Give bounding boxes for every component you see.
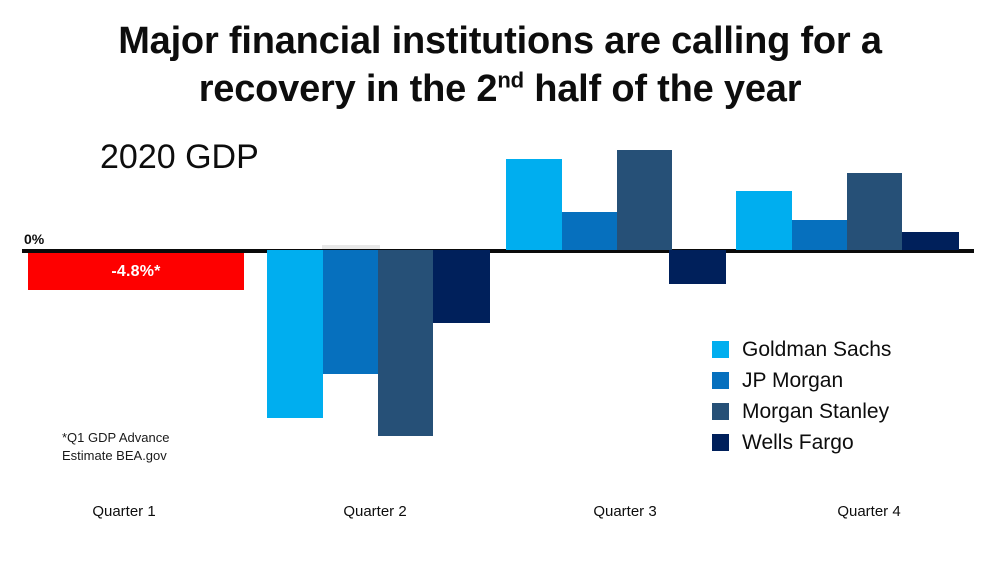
slide-canvas: Major financial institutions are calling…: [0, 0, 1000, 563]
bar-quarter-2-jp-morgan: [323, 250, 378, 374]
legend-item-morgan-stanley[interactable]: Morgan Stanley: [712, 396, 982, 427]
x-axis-label-quarter-4: Quarter 4: [799, 503, 939, 520]
bar-quarter-2-goldman-sachs: [267, 250, 323, 418]
legend-item-wells-fargo[interactable]: Wells Fargo: [712, 427, 982, 458]
footnote-line-1: *Q1 GDP Advance: [62, 429, 169, 447]
bar-quarter-2-wells-fargo: [433, 250, 490, 323]
legend-swatch-icon: [712, 434, 729, 451]
bar-quarter-3-goldman-sachs: [506, 159, 562, 250]
legend-swatch-icon: [712, 372, 729, 389]
q1-actual-value-label: -4.8%*: [111, 263, 160, 281]
legend-label: Goldman Sachs: [742, 338, 891, 362]
chart-plot-area: 0% -4.8%* Quarter 1 Quarter 2 Quarter 3 …: [0, 0, 1000, 563]
q1-actual-highlight-bar: -4.8%*: [28, 253, 244, 290]
bar-quarter-3-wells-fargo: [669, 250, 726, 284]
bar-quarter-4-wells-fargo: [902, 232, 959, 250]
legend-item-jp-morgan[interactable]: JP Morgan: [712, 365, 982, 396]
footnote-line-2: Estimate BEA.gov: [62, 447, 169, 465]
legend-swatch-icon: [712, 341, 729, 358]
footnote: *Q1 GDP Advance Estimate BEA.gov: [62, 429, 169, 464]
y-axis-zero-label: 0%: [24, 231, 44, 247]
bar-quarter-4-jp-morgan: [792, 220, 847, 250]
legend-label: Wells Fargo: [742, 431, 854, 455]
bar-quarter-3-jp-morgan: [562, 212, 617, 250]
x-axis-label-quarter-1: Quarter 1: [54, 503, 194, 520]
chart-legend: Goldman Sachs JP Morgan Morgan Stanley W…: [712, 334, 982, 458]
x-axis-label-quarter-3: Quarter 3: [555, 503, 695, 520]
bar-quarter-4-morgan-stanley: [847, 173, 902, 250]
legend-swatch-icon: [712, 403, 729, 420]
x-axis-label-quarter-2: Quarter 2: [305, 503, 445, 520]
legend-item-goldman-sachs[interactable]: Goldman Sachs: [712, 334, 982, 365]
legend-label: Morgan Stanley: [742, 400, 889, 424]
bar-quarter-3-morgan-stanley: [617, 150, 672, 250]
legend-label: JP Morgan: [742, 369, 843, 393]
bar-quarter-4-goldman-sachs: [736, 191, 792, 250]
bar-quarter-2-morgan-stanley: [378, 250, 433, 436]
